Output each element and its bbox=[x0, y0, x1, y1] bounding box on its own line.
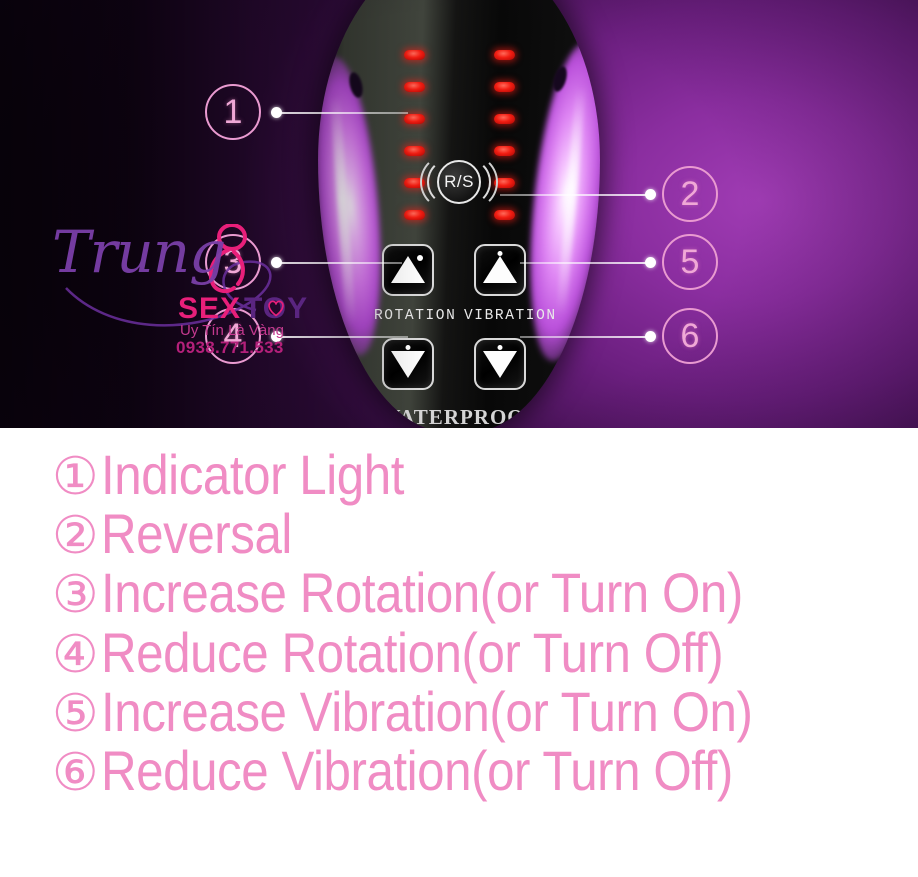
led-indicator-left-1 bbox=[404, 50, 425, 60]
led-indicator-right-6 bbox=[494, 210, 515, 220]
watermark: Trung SEX TOY Uy Tín Là Vàng 0938.771.53… bbox=[48, 214, 328, 344]
button-highlight-dot bbox=[498, 345, 503, 350]
legend-number-1: ① bbox=[52, 451, 99, 503]
legend-item-2: ② Reversal bbox=[0, 505, 918, 563]
led-indicator-left-2 bbox=[404, 82, 425, 92]
shadow-nick-left bbox=[347, 71, 365, 99]
led-indicator-right-4 bbox=[494, 146, 515, 156]
led-indicator-right-2 bbox=[494, 82, 515, 92]
legend-label-5: Increase Vibration(or Turn On) bbox=[101, 683, 752, 741]
legend-item-4: ④ Reduce Rotation(or Turn Off) bbox=[0, 624, 918, 682]
button-highlight-dot bbox=[406, 345, 411, 350]
leader-dot-2 bbox=[645, 189, 656, 200]
callout-2: 2 bbox=[662, 166, 718, 222]
leader-line-2 bbox=[500, 194, 650, 196]
led-indicator-right-1 bbox=[494, 50, 515, 60]
callout-4: 4 bbox=[205, 308, 261, 364]
led-indicator-right-3 bbox=[494, 114, 515, 124]
watermark-swirl bbox=[48, 214, 328, 344]
triangle-down-icon bbox=[391, 351, 425, 378]
led-indicator-left-4 bbox=[404, 146, 425, 156]
callout-1: 1 bbox=[205, 84, 261, 140]
legend-label-6: Reduce Vibration(or Turn Off) bbox=[101, 742, 733, 800]
leader-line-1 bbox=[276, 112, 408, 114]
legend-label-2: Reversal bbox=[101, 505, 292, 563]
device-body: R/S ROTATION VIBRATION WATERPROOF bbox=[318, 0, 600, 428]
rs-button-label: R/S bbox=[429, 152, 489, 212]
highlight-streak-right bbox=[556, 86, 586, 316]
leader-dot-6 bbox=[645, 331, 656, 342]
legend-number-4: ④ bbox=[52, 629, 99, 681]
legend-label-1: Indicator Light bbox=[101, 446, 404, 504]
legend-item-6: ⑥ Reduce Vibration(or Turn Off) bbox=[0, 742, 918, 800]
legend-number-5: ⑤ bbox=[52, 688, 99, 740]
leader-dot-3 bbox=[271, 257, 282, 268]
legend-number-2: ② bbox=[52, 510, 99, 562]
leader-line-5 bbox=[520, 262, 650, 264]
legend-item-3: ③ Increase Rotation(or Turn On) bbox=[0, 564, 918, 622]
rotation-label: ROTATION bbox=[374, 308, 456, 324]
reduce-vibration-button[interactable] bbox=[474, 338, 526, 390]
vibration-label: VIBRATION bbox=[464, 308, 557, 324]
triangle-up-icon bbox=[483, 256, 517, 283]
shadow-nick-right bbox=[551, 65, 570, 93]
leader-dot-5 bbox=[645, 257, 656, 268]
waterproof-label: WATERPROOF bbox=[380, 405, 539, 428]
led-indicator-left-3 bbox=[404, 114, 425, 124]
leader-line-4 bbox=[276, 336, 408, 338]
button-highlight-dot bbox=[417, 255, 423, 261]
reversal-button[interactable]: R/S bbox=[429, 152, 489, 212]
increase-rotation-button[interactable] bbox=[382, 244, 434, 296]
increase-vibration-button[interactable] bbox=[474, 244, 526, 296]
leader-dot-4 bbox=[271, 331, 282, 342]
highlight-streak-left bbox=[330, 96, 356, 326]
legend-item-1: ① Indicator Light bbox=[0, 446, 918, 504]
triangle-down-icon bbox=[483, 351, 517, 378]
leader-dot-1 bbox=[271, 107, 282, 118]
leader-line-6 bbox=[520, 336, 650, 338]
legend-list: ① Indicator Light ② Reversal ③ Increase … bbox=[0, 428, 918, 877]
reduce-rotation-button[interactable] bbox=[382, 338, 434, 390]
legend-label-4: Reduce Rotation(or Turn Off) bbox=[101, 624, 723, 682]
callout-6: 6 bbox=[662, 308, 718, 364]
legend-number-3: ③ bbox=[52, 569, 99, 621]
callout-5: 5 bbox=[662, 234, 718, 290]
button-highlight-dot bbox=[498, 251, 503, 256]
legend-label-3: Increase Rotation(or Turn On) bbox=[101, 564, 743, 622]
product-photo: R/S ROTATION VIBRATION WATERPROOF bbox=[0, 0, 918, 428]
product-instruction-page: R/S ROTATION VIBRATION WATERPROOF bbox=[0, 0, 918, 877]
led-indicator-left-6 bbox=[404, 210, 425, 220]
callout-3: 3 bbox=[205, 234, 261, 290]
heart-icon bbox=[266, 298, 286, 318]
watermark-brand-script: Trung bbox=[52, 218, 225, 286]
leader-line-3 bbox=[276, 262, 402, 264]
legend-number-6: ⑥ bbox=[52, 747, 99, 799]
legend-item-5: ⑤ Increase Vibration(or Turn On) bbox=[0, 683, 918, 741]
